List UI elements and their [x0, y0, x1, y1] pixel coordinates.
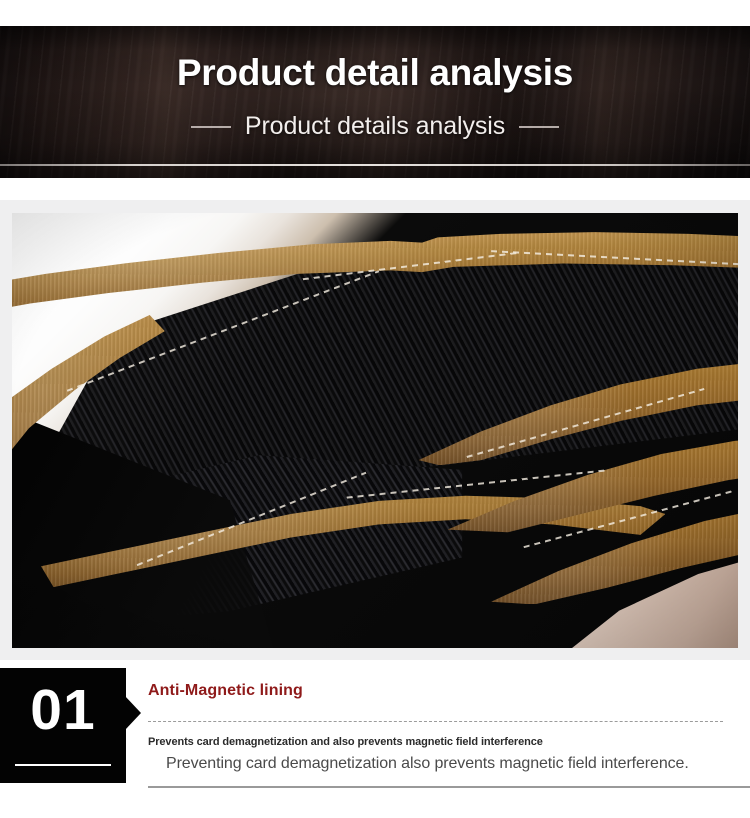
top-white-strip	[0, 0, 750, 26]
product-image	[12, 213, 738, 648]
page-subtitle: Product details analysis	[245, 112, 505, 141]
feature-caption-block: 01 Anti-Magnetic lining Prevents card de…	[0, 660, 750, 818]
hero-texture-vignette	[0, 26, 750, 178]
feature-number-underline	[15, 764, 111, 766]
feature-dashed-divider	[148, 721, 723, 722]
dash-left-icon	[191, 126, 231, 128]
feature-description-long: Preventing card demagnetization also pre…	[166, 755, 689, 773]
feature-description-short: Prevents card demagnetization and also p…	[148, 736, 543, 748]
hero-bottom-rule	[0, 164, 750, 166]
feature-number-block: 01	[0, 668, 126, 783]
product-image-frame	[0, 200, 750, 660]
dash-right-icon	[519, 126, 559, 128]
hero-banner: Product detail analysis Product details …	[0, 26, 750, 178]
feature-number: 01	[0, 682, 126, 739]
feature-bottom-rule	[148, 786, 750, 788]
hero-subtitle-row: Product details analysis	[0, 112, 750, 141]
feature-title: Anti-Magnetic lining	[148, 682, 303, 700]
page-title: Product detail analysis	[0, 52, 750, 94]
arrow-right-icon	[125, 696, 141, 730]
